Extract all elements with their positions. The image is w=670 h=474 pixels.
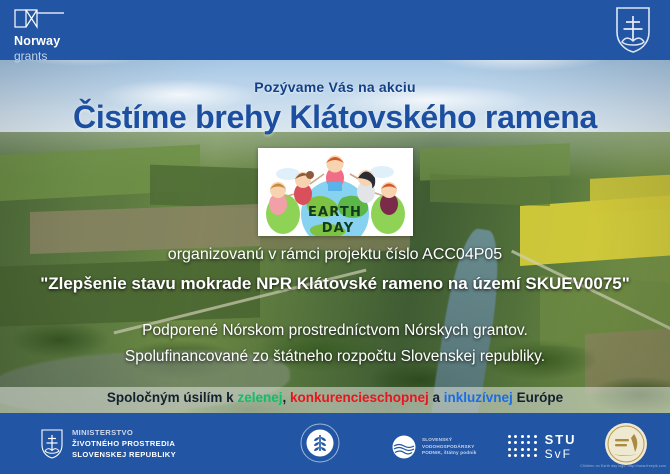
slogan-sep-1: , [282,390,290,405]
svp-line-1: SLOVENSKÝ [422,437,476,444]
norway-grants-logo: Norway grants [14,7,66,63]
funding-line-2: Spolufinancované zo štátneho rozpočtu Sl… [0,348,670,366]
poster-content: Pozývame Vás na akciu Čistíme brehy Klát… [0,0,670,474]
svp-line-2: VODOHOSPODÁRSKY [422,444,476,451]
svp-line-3: PODNIK, štátny podnik [422,450,476,457]
ministry-line-3: SLOVENSKEJ REPUBLIKY [72,449,176,460]
stu-logo: STU SvF [508,433,577,460]
stu-line-2: SvF [545,448,577,460]
slogan-sep-2: a [429,390,444,405]
earth-day-illustration: EARTH DAY [258,148,413,236]
page-title: Čistíme brehy Klátovského ramena [0,99,670,136]
funding-line-1: Podporené Nórskom prostredníctvom Nórsky… [0,322,670,340]
gold-seal-logo [604,422,648,466]
kicker-text: Pozývame Vás na akciu [0,79,670,95]
slogan: Spoločným úsilím k zelenej, konkurencies… [0,390,670,405]
ministry-line-2: ŽIVOTNÉHO PROSTREDIA [72,438,176,449]
earth-word: EARTH [308,205,362,220]
project-name: "Zlepšenie stavu mokrade NPR Klátovské r… [0,274,670,294]
ministry-logo: MINISTERSTVO ŽIVOTNÉHO PROSTREDIA SLOVEN… [40,427,176,460]
university-wheat-seal-icon [300,423,340,463]
ministry-line-1: MINISTERSTVO [72,427,176,438]
slogan-part-1: Spoločným úsilím k [107,390,238,405]
header-bar: Norway grants [0,0,670,60]
slogan-part-2: Európe [513,390,563,405]
slogan-red-word: konkurencieschopnej [290,390,429,405]
day-word: DAY [322,221,355,236]
ministry-label: MINISTERSTVO ŽIVOTNÉHO PROSTREDIA SLOVEN… [72,427,176,460]
slogan-blue-word: inkluzívnej [444,390,513,405]
organized-line: organizovanú v rámci projektu číslo ACC0… [0,246,670,264]
norway-label: Norway [14,35,66,49]
stu-line-1: STU [545,433,577,446]
university-seal-logo [300,423,340,463]
gold-circular-seal-icon [604,422,648,466]
slovak-coat-of-arms-icon [614,6,652,59]
slogan-green-word: zelenej [237,390,282,405]
poster: Norway grants Pozývame Vás na akciu Čist… [0,0,670,474]
slovak-coat-of-arms-icon [40,429,64,459]
stu-dot-matrix-icon [508,435,538,458]
image-credit: Children on Earth day logo: http://www.f… [580,464,666,468]
stu-label: STU SvF [545,433,577,460]
water-company-label: SLOVENSKÝ VODOHOSPODÁRSKY PODNIK, štátny… [422,437,476,458]
footer-bar: MINISTERSTVO ŽIVOTNÉHO PROSTREDIA SLOVEN… [0,413,670,474]
grants-label: grants [14,50,66,63]
water-company-logo: SLOVENSKÝ VODOHOSPODÁRSKY PODNIK, štátny… [392,435,476,459]
svp-water-circle-icon [392,435,416,459]
earth-day-children-illustration-icon: EARTH DAY [258,148,413,236]
norway-grants-mark-icon [14,7,66,33]
